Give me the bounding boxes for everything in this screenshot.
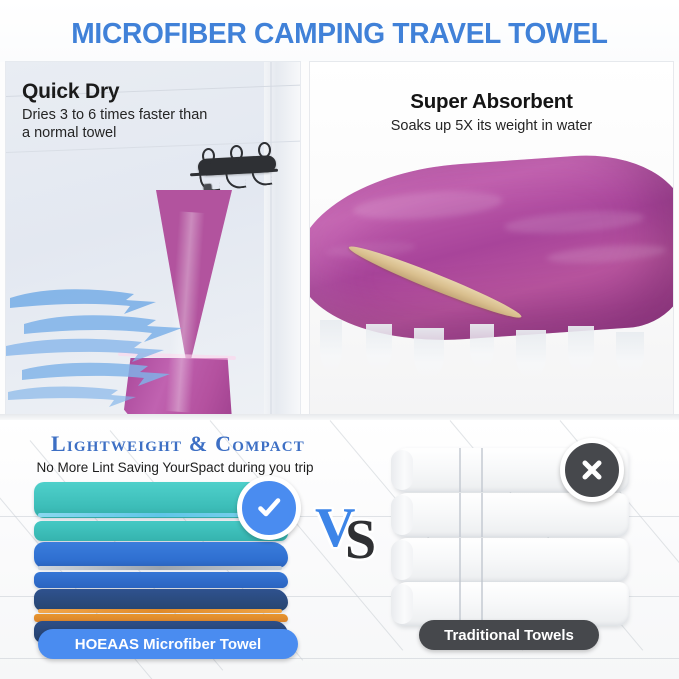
towel-roll-edge: [391, 584, 413, 624]
check-circle-icon: [237, 476, 301, 540]
super-absorbent-subtitle: Soaks up 5X its weight in water: [310, 118, 673, 134]
hook-peg-1: [202, 148, 215, 164]
wall-edge-decor: [264, 62, 300, 414]
header-banner: MICROFIBER CAMPING TRAVEL TOWEL: [0, 0, 679, 62]
towel-band: [459, 493, 461, 537]
x-circle-icon: [560, 438, 624, 502]
hook-curl-2: [225, 166, 247, 190]
towel-band: [481, 493, 483, 537]
towel-band: [459, 538, 461, 582]
page-title: MICROFIBER CAMPING TRAVEL TOWEL: [10, 18, 669, 51]
water-drip-4: [470, 324, 494, 368]
lightweight-subtitle: No More Lint Saving YourSpact during you…: [10, 460, 340, 475]
towel-fold-2: [504, 207, 645, 237]
panel-quick-dry: Quick Dry Dries 3 to 6 times faster than…: [6, 62, 300, 414]
towel-layer-navy: [34, 589, 288, 611]
microfiber-towel-stack: [34, 482, 302, 622]
water-drip-2: [366, 324, 392, 370]
towel-trim-gray: [38, 566, 282, 570]
label-hoeaas-microfiber-towel: HOEAAS Microfiber Towel: [38, 629, 298, 659]
water-drip-7: [616, 332, 644, 374]
water-drip-5: [516, 330, 546, 378]
towel-layer-royal-blue-2: [34, 572, 288, 588]
hook-curl-3: [251, 163, 273, 187]
super-absorbent-title: Super Absorbent: [310, 90, 673, 114]
lightweight-title: Lightweight & Compact: [18, 431, 338, 457]
towel-roll-edge: [391, 540, 413, 580]
quick-dry-title: Quick Dry: [22, 80, 119, 104]
hook-peg-2: [230, 145, 243, 161]
towel-fold-1: [352, 187, 503, 223]
water-drip-3: [414, 328, 444, 378]
towel-trim-orange: [38, 609, 282, 613]
wet-twisted-towel-image: [310, 149, 673, 351]
towel-layer-royal-blue: [34, 542, 288, 568]
towel-band: [481, 538, 483, 582]
infographic-root: MICROFIBER CAMPING TRAVEL TOWEL Quick Dr…: [0, 0, 679, 679]
towel-hang-strap: [345, 240, 525, 324]
traditional-towel-stack: [393, 448, 629, 626]
label-traditional-towels: Traditional Towels: [419, 620, 599, 650]
towel-fold-3: [546, 242, 667, 266]
towel-band: [459, 448, 461, 492]
hook-peg-3: [258, 142, 271, 158]
air-flow-arrows-icon: [6, 280, 206, 410]
water-drip-1: [320, 320, 342, 372]
towel-roll-edge: [391, 450, 413, 490]
vs-letter-s: S: [345, 512, 376, 568]
towel-roll-edge: [391, 495, 413, 535]
quick-dry-subtitle: Dries 3 to 6 times faster than a normal …: [22, 106, 212, 142]
versus-badge: V S: [315, 500, 393, 562]
panel-super-absorbent: Super Absorbent Soaks up 5X its weight i…: [310, 62, 673, 414]
water-drip-6: [568, 326, 594, 372]
towel-band: [481, 448, 483, 492]
panel-comparison: Lightweight & Compact No More Lint Savin…: [0, 420, 679, 679]
